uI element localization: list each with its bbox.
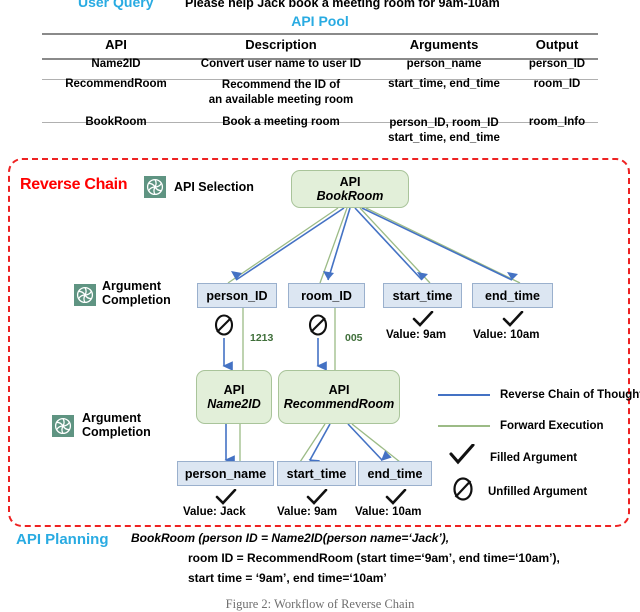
api-node-keyword: API [340,176,361,189]
legend-line-blue [438,394,490,396]
legend-item-reverse-chain: Reverse Chain of Thought [438,389,640,401]
api-node-name: BookRoom [317,189,384,203]
value-start-time: Value: 9am [386,329,446,341]
table-row: BookRoom Book a meeting room person_ID, … [42,116,598,146]
stage-label-api-selection: API Selection [174,180,254,194]
legend-label-reverse-chain: Reverse Chain of Thought [500,389,640,401]
api-planning-line-1: BookRoom (person ID = Name2ID(person nam… [131,531,449,545]
legend-item-forward-execution: Forward Execution [438,420,604,432]
cell-api: Name2ID [42,58,190,70]
legend-label-filled-argument: Filled Argument [490,452,577,464]
unfilled-icon [212,312,236,343]
table-header-arguments: Arguments [372,37,516,52]
gpt-icon [74,284,96,306]
unfilled-icon [306,312,330,343]
table-row: RecommendRoom Recommend the ID of an ava… [42,78,598,108]
unfilled-icon [450,475,476,508]
table-row: Name2ID Convert user name to user ID per… [42,58,598,70]
api-planning-line-3: start time = ‘9am’, end time=‘10am’ [188,571,387,585]
cell-arguments: person_name [372,58,516,70]
value-end-time: Value: 10am [473,329,539,341]
value-start-time-2: Value: 9am [277,506,337,518]
table-header-description: Description [190,37,372,52]
arg-node-end-time[interactable]: end_time [472,283,553,308]
legend-label-forward-execution: Forward Execution [500,420,604,432]
forward-value-person-id: 1213 [250,332,273,344]
arg-node-person-id[interactable]: person_ID [197,283,277,308]
forward-value-room-id: 005 [345,332,363,344]
figure-caption: Figure 2: Workflow of Reverse Chain [0,597,640,612]
cell-api: RecommendRoom [42,78,190,108]
arg-node-person-name[interactable]: person_name [177,461,274,486]
cell-description: Recommend the ID of an available meeting… [190,78,372,108]
api-node-keyword: API [329,384,350,397]
api-pool-table: API Description Arguments Output Name2ID… [42,37,598,146]
api-planning-line-2: room ID = RecommendRoom (start time=‘9am… [188,551,560,565]
api-node-name2id[interactable]: API Name2ID [196,370,272,424]
check-icon [448,444,476,471]
cell-arguments: person_ID, room_ID start_time, end_time [372,116,516,146]
api-node-name: Name2ID [207,397,261,411]
api-node-name: RecommendRoom [284,397,394,411]
stage-label-argument-completion-2: Argument Completion [82,411,151,439]
gpt-icon [144,176,166,198]
legend-item-filled-argument: Filled Argument [448,444,577,471]
table-rule-top [42,33,598,35]
cell-description: Book a meeting room [190,116,372,146]
legend-item-unfilled-argument: Unfilled Argument [450,475,587,508]
arg-node-start-time-2[interactable]: start_time [277,461,356,486]
api-node-bookroom[interactable]: API BookRoom [291,170,409,208]
user-query-text: Please help Jack book a meeting room for… [185,0,500,10]
reverse-chain-title: Reverse Chain [20,176,127,194]
stage-label-argument-completion-1: Argument Completion [102,279,171,307]
arg-node-end-time-2[interactable]: end_time [358,461,432,486]
value-person-name: Value: Jack [183,506,246,518]
cell-output: person_ID [516,58,598,70]
api-planning-label: API Planning [16,531,109,548]
cell-output: room_ID [516,78,598,108]
gpt-icon [52,415,74,437]
cell-api: BookRoom [42,116,190,146]
value-end-time-2: Value: 10am [355,506,421,518]
table-header-output: Output [516,37,598,52]
api-node-keyword: API [224,384,245,397]
legend-label-unfilled-argument: Unfilled Argument [488,486,587,498]
legend-line-green [438,425,490,427]
cell-arguments: start_time, end_time [372,78,516,108]
api-pool-label: API Pool [0,13,640,29]
arg-node-room-id[interactable]: room_ID [288,283,365,308]
user-query-label: User Query [78,0,153,10]
arg-node-start-time[interactable]: start_time [383,283,462,308]
api-node-recommendroom[interactable]: API RecommendRoom [278,370,400,424]
cell-description: Convert user name to user ID [190,58,372,70]
table-header-api: API [42,37,190,52]
cell-output: room_Info [516,116,598,146]
